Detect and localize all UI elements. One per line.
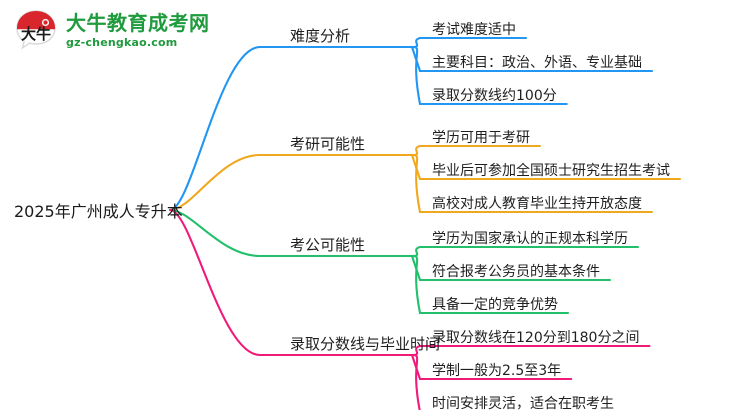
branch-node-2[interactable]: 考研可能性 (290, 133, 365, 154)
leaf-node-1-2[interactable]: 主要科目：政治、外语、专业基础 (432, 52, 642, 72)
daniu-logo-icon: 大牛 (14, 8, 58, 52)
leaf-node-3-1[interactable]: 学历为国家承认的正规本科学历 (432, 228, 628, 248)
logo-title: 大牛教育成考网 (66, 13, 210, 33)
leaf-node-3-3[interactable]: 具备一定的竞争优势 (432, 294, 558, 314)
leaf-node-1-1[interactable]: 考试难度适中 (432, 19, 516, 39)
leaf-node-1-3[interactable]: 录取分数线约100分 (432, 85, 557, 105)
leaf-node-4-2[interactable]: 学制一般为2.5至3年 (432, 360, 561, 380)
root-node: 2025年广州成人专升本 (14, 198, 183, 222)
leaf-node-4-3[interactable]: 时间安排灵活，适合在职考生 (432, 393, 614, 413)
svg-text:大牛: 大牛 (21, 25, 51, 43)
logo-subtitle: gz-chengkao.com (66, 37, 210, 48)
leaf-node-3-2[interactable]: 符合报考公务员的基本条件 (432, 261, 600, 281)
site-logo: 大牛 大牛教育成考网 gz-chengkao.com (14, 8, 210, 52)
mindmap-canvas: 大牛 大牛教育成考网 gz-chengkao.com 2025年广州成人专升本难… (0, 0, 750, 410)
leaf-node-4-1[interactable]: 录取分数线在120分到180分之间 (432, 327, 639, 347)
leaf-node-2-2[interactable]: 毕业后可参加全国硕士研究生招生考试 (432, 160, 670, 180)
leaf-node-2-1[interactable]: 学历可用于考研 (432, 127, 530, 147)
branch-node-4[interactable]: 录取分数线与毕业时间 (290, 333, 440, 354)
branch-node-3[interactable]: 考公可能性 (290, 234, 365, 255)
branch-node-1[interactable]: 难度分析 (290, 25, 350, 46)
leaf-node-2-3[interactable]: 高校对成人教育毕业生持开放态度 (432, 193, 642, 213)
